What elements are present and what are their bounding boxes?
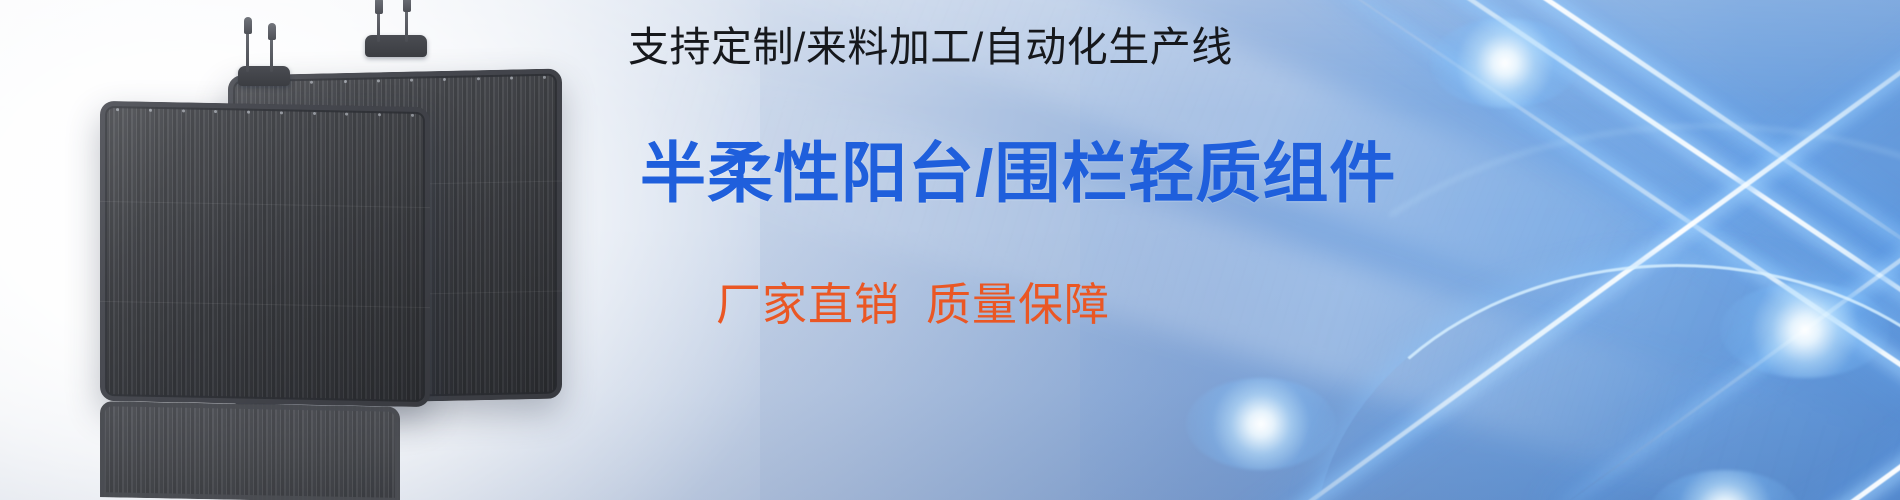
banner-slogan: 厂家直销质量保障 xyxy=(716,278,1110,332)
cable-lead xyxy=(270,36,273,72)
panel-seam xyxy=(100,201,430,208)
light-node xyxy=(1650,470,1800,500)
cable-lead xyxy=(377,10,380,42)
solar-panel-front xyxy=(100,101,430,407)
slogan-part-1: 厂家直销 xyxy=(716,279,900,330)
solar-panel-bottom-edge xyxy=(100,401,400,500)
banner-headline: 半柔性阳台/围栏轻质组件 xyxy=(640,135,1396,213)
panel-mount-dots xyxy=(116,108,414,117)
banner-copy: 支持定制/来料加工/自动化生产线 半柔性阳台/围栏轻质组件 厂家直销质量保障 xyxy=(628,0,1428,500)
light-streak-soft xyxy=(1559,0,1900,500)
cable-lead xyxy=(246,30,249,72)
junction-box xyxy=(365,35,427,57)
light-streak xyxy=(1562,0,1900,500)
cable-lead xyxy=(405,8,408,42)
promo-banner: 支持定制/来料加工/自动化生产线 半柔性阳台/围栏轻质组件 厂家直销质量保障 xyxy=(0,0,1900,500)
light-node xyxy=(1430,18,1580,108)
solar-panel-pair xyxy=(0,0,640,500)
slogan-part-2: 质量保障 xyxy=(926,279,1110,330)
banner-subheadline: 支持定制/来料加工/自动化生产线 xyxy=(628,22,1233,73)
light-node xyxy=(1720,282,1890,378)
panel-seam xyxy=(100,301,430,308)
